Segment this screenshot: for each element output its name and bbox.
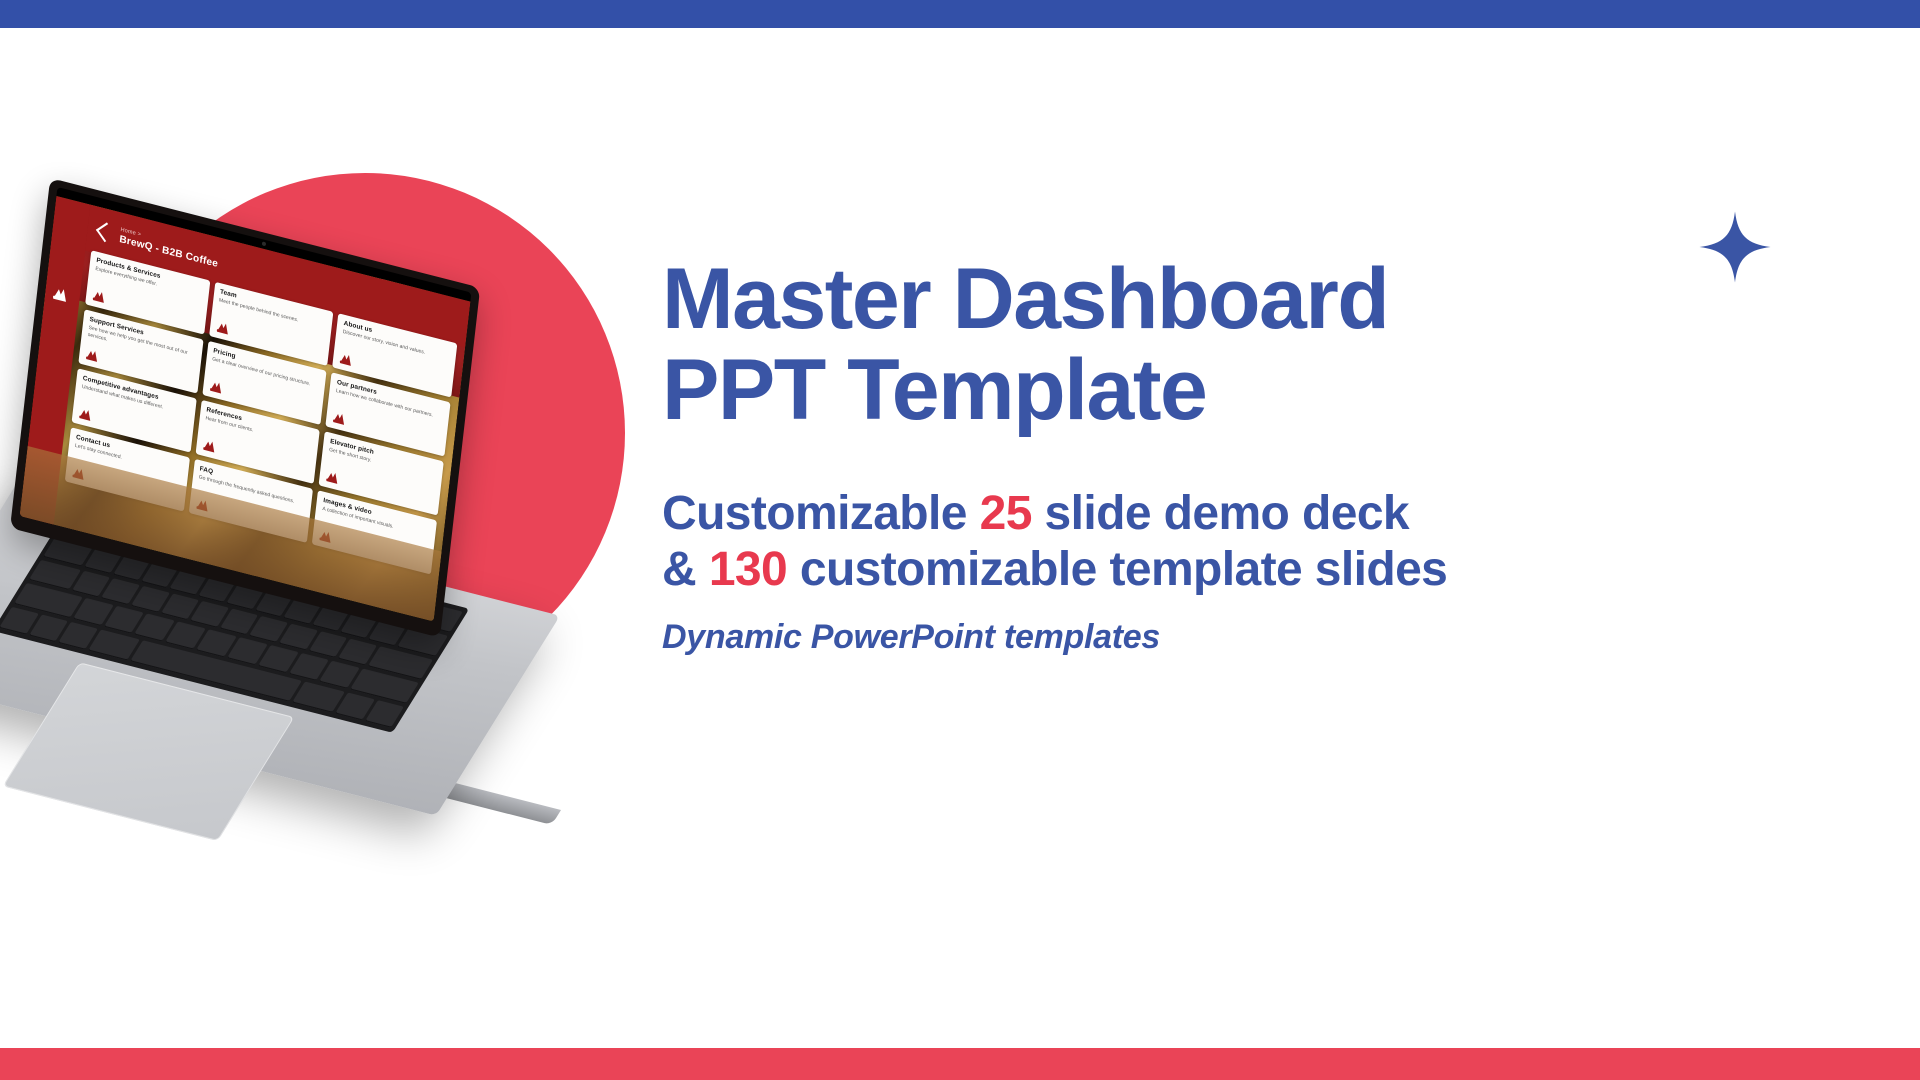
chevron-left-icon[interactable]: [96, 222, 116, 242]
brand-mark-icon: [319, 528, 337, 545]
subheadline-line-1-prefix: Customizable: [662, 487, 980, 540]
subheadline-line-2-prefix: &: [662, 543, 709, 596]
headline-line-2: PPT Template: [662, 342, 1206, 438]
brand-mark-icon: [78, 406, 96, 423]
bottom-accent-band: [0, 1048, 1920, 1080]
slide-demo-count: 25: [980, 487, 1032, 540]
brand-mark-icon: [85, 347, 103, 364]
brand-mark-icon: [195, 496, 213, 513]
brand-mark-icon: [215, 319, 233, 336]
template-slide-count: 130: [709, 543, 787, 596]
brand-mark-icon: [52, 284, 74, 305]
laptop-mockup: Home > BrewQ - B2B Coffee Products & Ser…: [0, 148, 640, 768]
brand-mark-icon: [209, 378, 227, 395]
brand-mark-icon: [325, 469, 343, 486]
brand-mark-icon: [92, 288, 110, 305]
top-accent-band: [0, 0, 1920, 28]
subheadline: Customizable 25 slide demo deck & 130 cu…: [662, 486, 1912, 599]
webcam-icon: [262, 241, 266, 246]
subheadline-line-1: Customizable 25 slide demo deck: [662, 486, 1912, 543]
subheadline-line-1-suffix: slide demo deck: [1032, 487, 1409, 540]
brand-mark-icon: [339, 351, 357, 368]
brand-mark-icon: [332, 410, 350, 427]
headline-line-2-wrap: PPT Template: [662, 345, 1912, 436]
hero-visual: Home > BrewQ - B2B Coffee Products & Ser…: [0, 28, 660, 1048]
subheadline-line-2: & 130 customizable template slides: [662, 542, 1912, 599]
brand-mark-icon: [202, 437, 220, 454]
hero-copy: Master Dashboard PPT Template Customizab…: [660, 28, 1920, 1048]
tagline: Dynamic PowerPoint templates: [662, 618, 1160, 657]
brand-mark-icon: [71, 465, 89, 482]
four-point-star-icon: [1698, 210, 1772, 284]
subheadline-line-2-suffix: customizable template slides: [787, 543, 1447, 596]
